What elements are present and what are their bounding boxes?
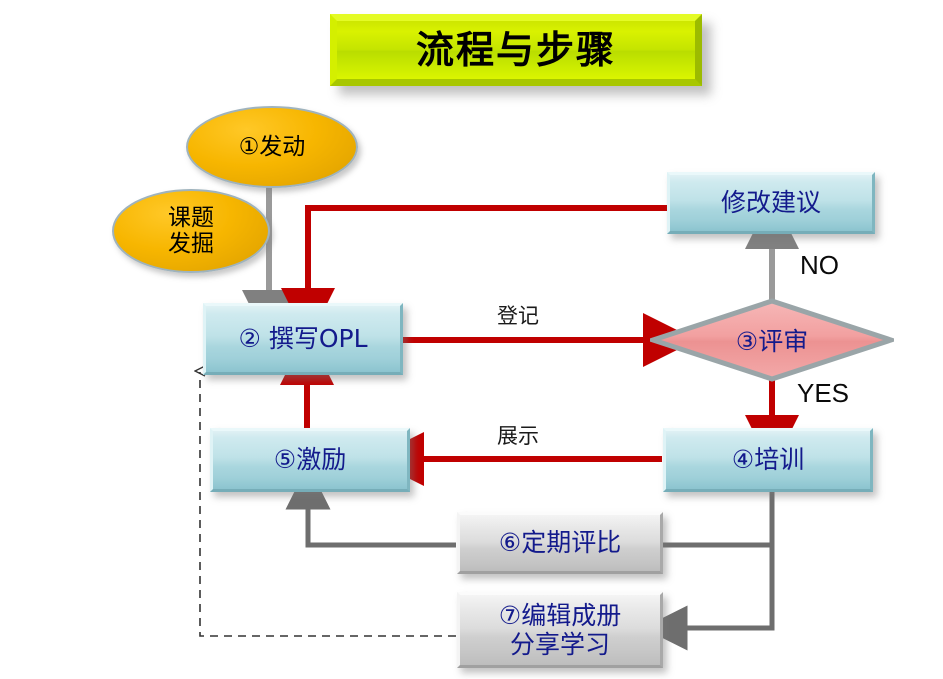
node-revise-suggestion-label: 修改建议 <box>721 189 821 217</box>
node-review[interactable]: ③评审 <box>650 298 894 382</box>
node-start-label: ①发动 <box>239 134 306 160</box>
flowchart-canvas: 流程与步骤 <box>0 0 943 679</box>
page-title: 流程与步骤 <box>416 31 616 69</box>
node-topic-line1: 课题 <box>168 205 214 231</box>
edge-label-display: 展示 <box>497 420 539 450</box>
node-write-opl[interactable]: ② 撰写OPL <box>203 303 403 375</box>
edge-compile-to-writeopl-dashed <box>200 372 456 636</box>
title-banner: 流程与步骤 <box>330 14 702 86</box>
edge-train-down-trunk <box>662 492 772 628</box>
node-write-opl-label: ② 撰写OPL <box>238 325 367 353</box>
node-training[interactable]: ④培训 <box>663 428 873 492</box>
edge-label-register: 登记 <box>497 300 539 330</box>
edge-label-no: NO <box>800 250 839 281</box>
node-start[interactable]: ①发动 <box>186 106 358 188</box>
node-periodic-review[interactable]: ⑥定期评比 <box>457 512 663 574</box>
node-topic-discovery[interactable]: 课题 发掘 <box>112 189 270 273</box>
node-training-label: ④培训 <box>732 446 804 474</box>
node-reward-label: ⑤激励 <box>274 446 346 474</box>
node-periodic-review-label: ⑥定期评比 <box>499 528 621 558</box>
node-review-label: ③评审 <box>650 298 894 382</box>
node-revise-suggestion[interactable]: 修改建议 <box>667 172 875 234</box>
node-reward[interactable]: ⑤激励 <box>210 428 410 492</box>
edge-label-yes: YES <box>797 378 849 409</box>
node-compile-line1: ⑦编辑成册 <box>499 601 621 630</box>
edge-rank-to-reward <box>308 502 456 545</box>
node-topic-discovery-label: 课题 发掘 <box>168 205 214 258</box>
node-compile-share[interactable]: ⑦编辑成册 分享学习 <box>457 592 663 668</box>
edge-revise-to-writeopl <box>308 208 668 297</box>
node-topic-line2: 发掘 <box>168 231 214 257</box>
node-compile-share-label: ⑦编辑成册 分享学习 <box>499 601 621 660</box>
node-compile-line2: 分享学习 <box>510 630 610 659</box>
